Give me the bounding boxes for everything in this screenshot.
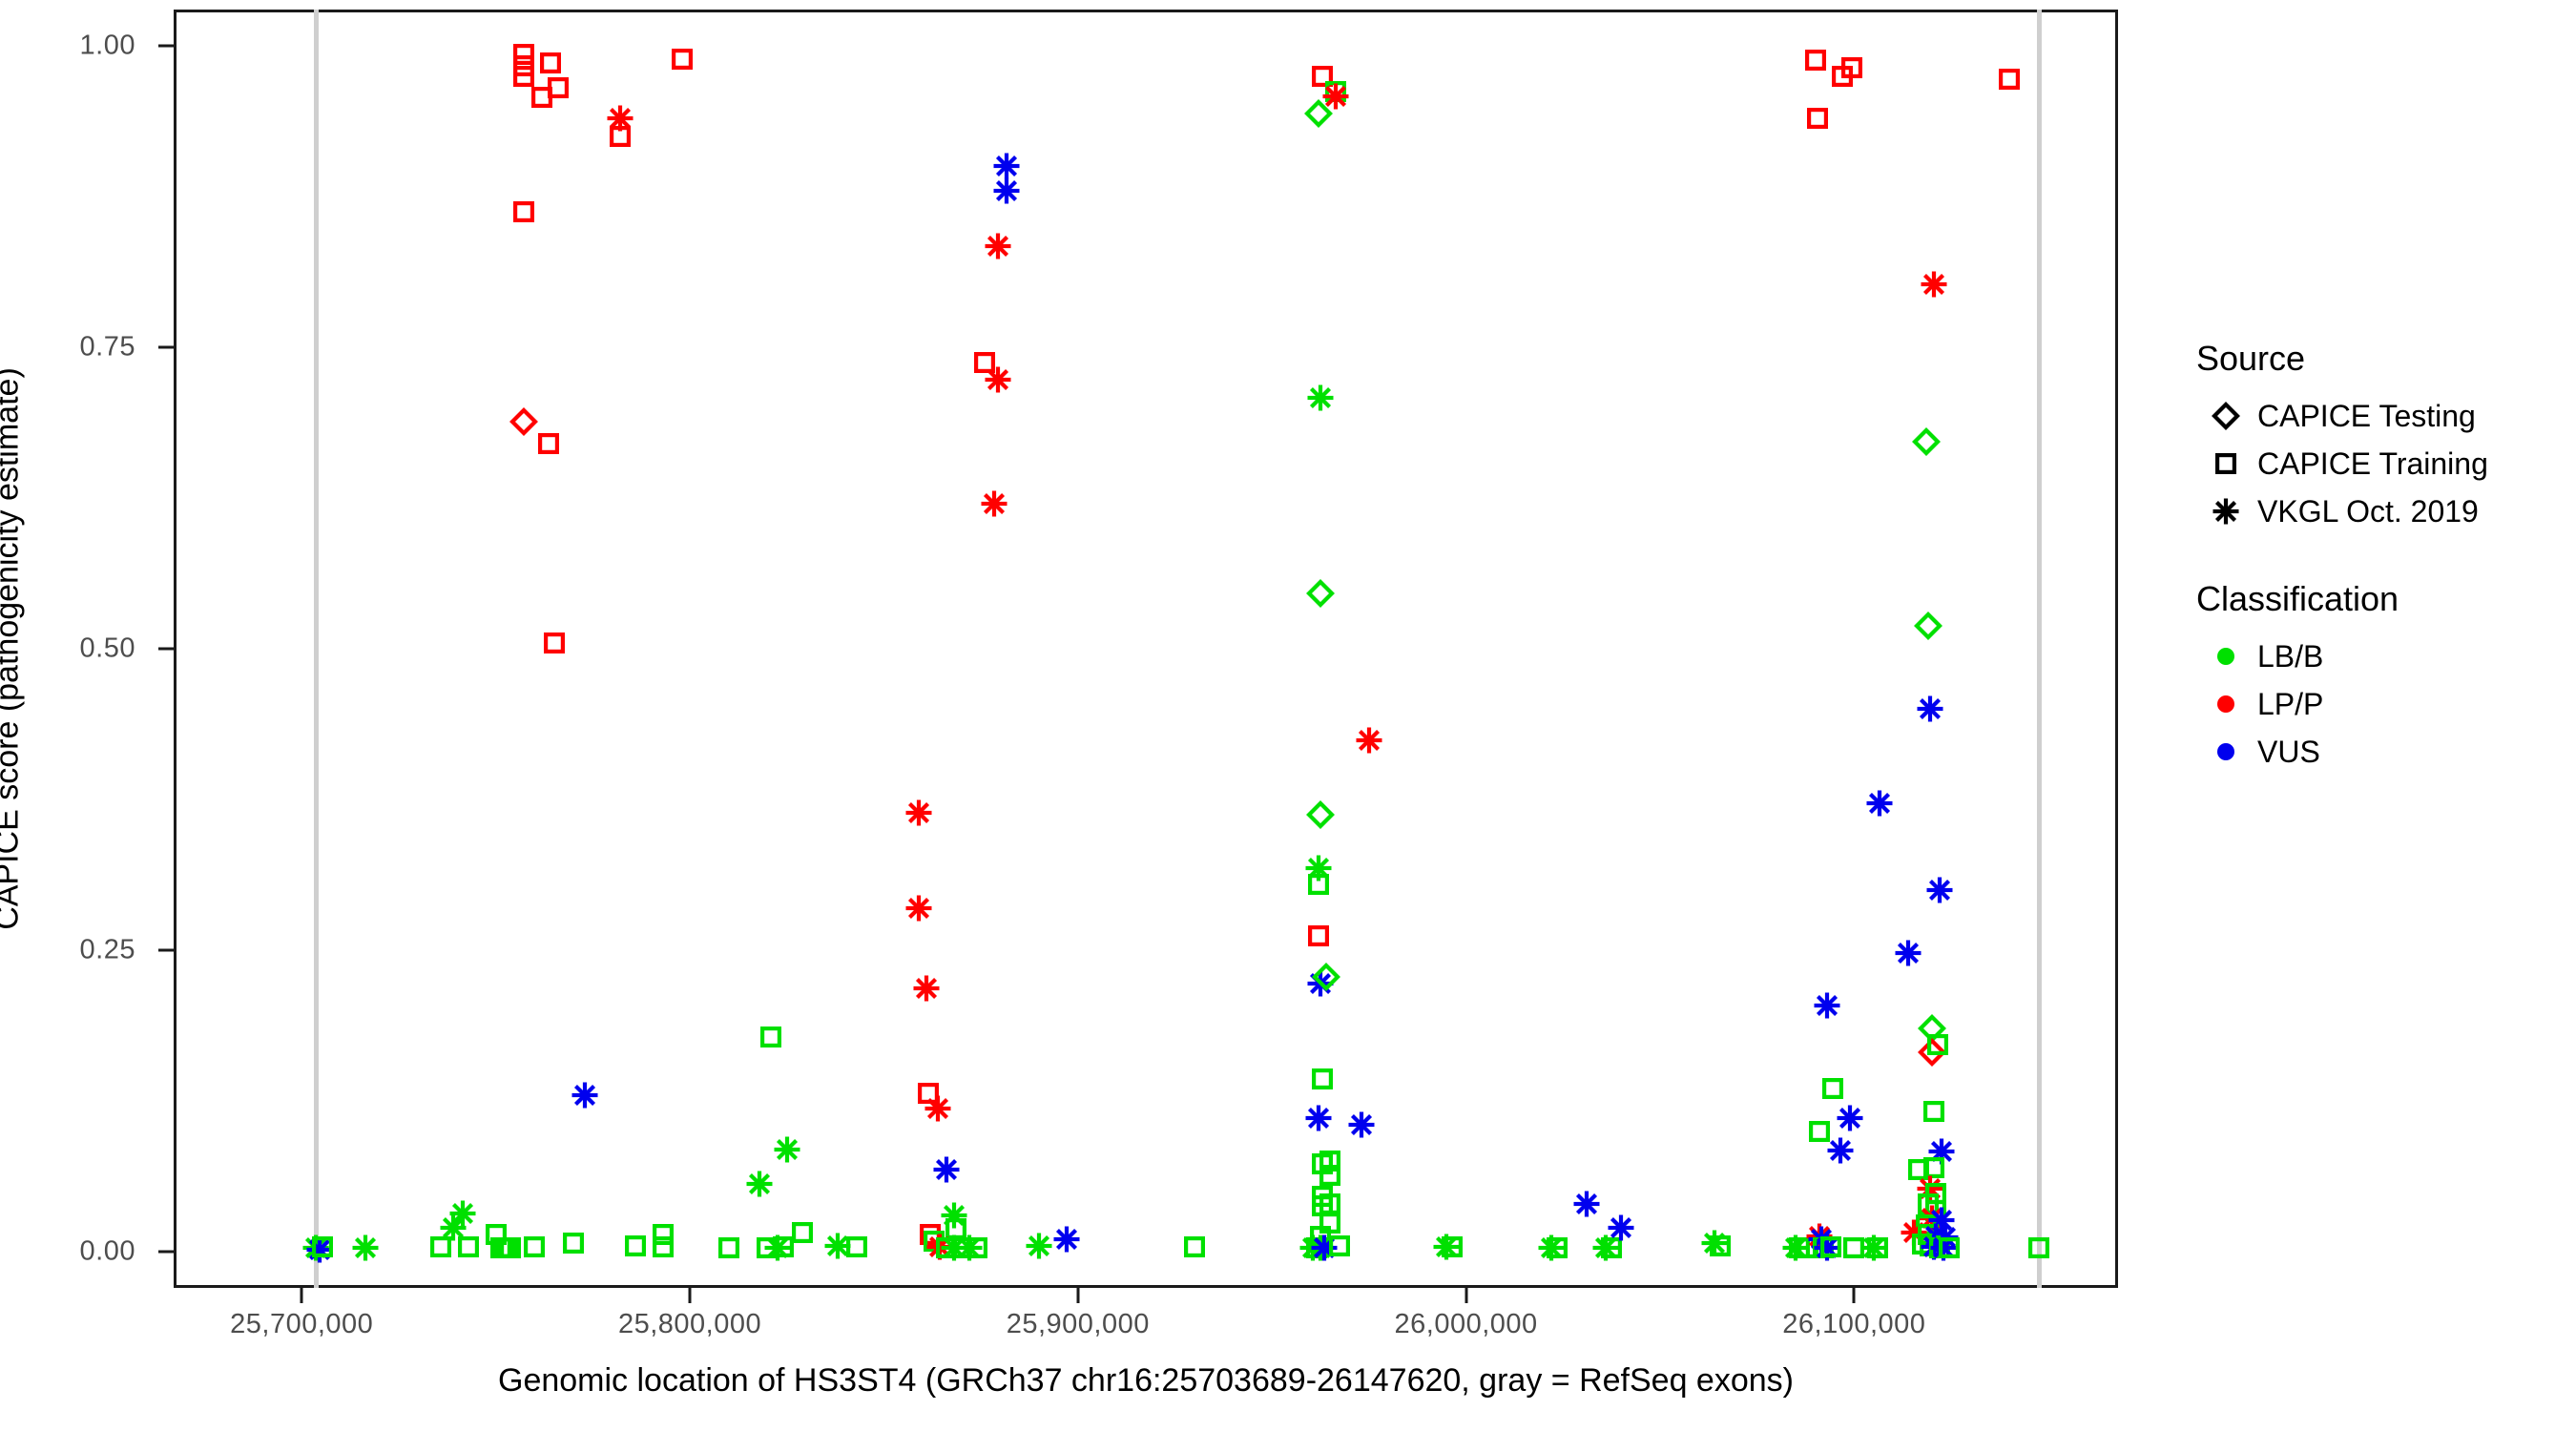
data-point bbox=[1794, 1234, 1822, 1262]
legend-item-lb-b[interactable]: LB/B bbox=[2194, 633, 2557, 680]
data-point bbox=[992, 152, 1021, 180]
data-point bbox=[1836, 1104, 1864, 1132]
x-tick-mark bbox=[1465, 1288, 1467, 1303]
data-point bbox=[1805, 1117, 1834, 1146]
refseq-exon-line-1 bbox=[314, 10, 319, 1288]
data-point bbox=[1310, 1234, 1339, 1262]
plot-area bbox=[174, 10, 2118, 1288]
x-tick-mark bbox=[689, 1288, 692, 1303]
data-point bbox=[745, 1170, 774, 1198]
data-point bbox=[1321, 82, 1350, 111]
data-point bbox=[1908, 1230, 1937, 1258]
data-point bbox=[757, 1023, 785, 1051]
data-point bbox=[490, 1234, 519, 1262]
data-point bbox=[1922, 1179, 1950, 1208]
data-point bbox=[1813, 991, 1841, 1020]
data-point bbox=[773, 1135, 801, 1164]
y-tick-mark bbox=[158, 44, 174, 47]
data-point bbox=[980, 489, 1008, 518]
data-point bbox=[1807, 1225, 1836, 1254]
data-point bbox=[940, 1234, 968, 1262]
data-point bbox=[1781, 1234, 1810, 1262]
data-point bbox=[1308, 1192, 1337, 1220]
data-point bbox=[448, 1199, 477, 1228]
data-point bbox=[1180, 1233, 1209, 1261]
y-tick-mark bbox=[158, 949, 174, 952]
data-point bbox=[496, 1234, 525, 1262]
data-point bbox=[482, 1220, 510, 1249]
data-point bbox=[984, 232, 1012, 260]
data-point bbox=[715, 1234, 743, 1262]
y-axis-title: CAPICE score (pathogenicity estimate) bbox=[0, 76, 27, 1221]
data-point bbox=[1918, 1204, 1946, 1233]
data-point bbox=[1306, 579, 1335, 608]
data-point bbox=[1432, 1233, 1461, 1261]
legend-item-capice-testing[interactable]: CAPICE Testing bbox=[2194, 392, 2557, 440]
legend-item-vkgl-oct-2019[interactable]: VKGL Oct. 2019 bbox=[2194, 487, 2557, 535]
data-point bbox=[509, 40, 538, 69]
data-point bbox=[963, 1234, 991, 1262]
data-point bbox=[1838, 53, 1866, 82]
data-point bbox=[788, 1218, 817, 1247]
data-point bbox=[1607, 1213, 1635, 1242]
data-point bbox=[1316, 1209, 1344, 1237]
data-point bbox=[947, 1234, 976, 1262]
data-point bbox=[1543, 1234, 1571, 1262]
plot-panel-wrapper bbox=[174, 10, 2118, 1288]
data-point bbox=[992, 176, 1021, 205]
data-point bbox=[1306, 800, 1335, 829]
data-point bbox=[932, 1155, 961, 1184]
y-tick-mark bbox=[158, 1251, 174, 1254]
data-point bbox=[942, 1214, 970, 1243]
data-point bbox=[1920, 270, 1948, 299]
data-point bbox=[621, 1232, 650, 1260]
data-point bbox=[1914, 1220, 1942, 1249]
data-point bbox=[454, 1233, 483, 1261]
data-point bbox=[544, 73, 572, 102]
data-point bbox=[823, 1232, 852, 1260]
data-point bbox=[1918, 1014, 1946, 1043]
data-point bbox=[509, 197, 538, 226]
data-point bbox=[1925, 876, 1954, 904]
y-tick-mark bbox=[158, 345, 174, 348]
x-axis: 25,700,00025,800,00025,900,00026,000,000… bbox=[174, 1288, 2118, 1431]
chart-page: 0.000.250.500.751.00 CAPICE score (patho… bbox=[0, 0, 2576, 1431]
data-point bbox=[904, 894, 933, 923]
data-point bbox=[1801, 46, 1830, 74]
red-dot-icon bbox=[2194, 690, 2257, 718]
data-point bbox=[1537, 1234, 1566, 1262]
data-point bbox=[540, 629, 569, 657]
data-point bbox=[769, 1233, 798, 1261]
legend-item-lp-p[interactable]: LP/P bbox=[2194, 680, 2557, 728]
data-point bbox=[920, 1227, 948, 1255]
data-point bbox=[308, 1233, 337, 1261]
data-point bbox=[1306, 384, 1335, 412]
data-point bbox=[912, 974, 941, 1003]
data-point bbox=[649, 1233, 677, 1261]
data-point bbox=[1894, 939, 1922, 967]
data-point bbox=[1818, 1074, 1847, 1103]
data-point bbox=[1935, 1234, 1963, 1262]
data-point bbox=[1914, 612, 1942, 640]
data-point bbox=[1308, 62, 1337, 91]
data-point bbox=[1927, 1137, 1956, 1166]
data-point bbox=[493, 1234, 522, 1262]
data-point bbox=[1914, 1190, 1942, 1218]
data-point bbox=[1308, 1150, 1337, 1178]
data-point bbox=[1316, 1161, 1344, 1190]
data-point bbox=[534, 429, 563, 458]
y-tick-label: 0.25 bbox=[80, 935, 135, 966]
data-point bbox=[753, 1234, 781, 1262]
data-point bbox=[1572, 1190, 1601, 1218]
data-point bbox=[1325, 1232, 1354, 1260]
chart-legend: SourceCAPICE TestingCAPICE TrainingVKGL … bbox=[2194, 339, 2557, 819]
legend-label: VKGL Oct. 2019 bbox=[2257, 494, 2479, 529]
x-tick-mark bbox=[1853, 1288, 1856, 1303]
data-point bbox=[649, 1220, 677, 1249]
data-point bbox=[1304, 1104, 1333, 1132]
y-tick-label: 0.50 bbox=[80, 633, 135, 665]
legend-item-vus[interactable]: VUS bbox=[2194, 728, 2557, 776]
data-point bbox=[1904, 1155, 1933, 1184]
square-outline-icon bbox=[2194, 449, 2257, 478]
x-tick-label: 25,900,000 bbox=[1007, 1309, 1150, 1340]
data-point bbox=[1912, 1211, 1941, 1239]
data-point bbox=[1918, 1038, 1946, 1067]
data-point bbox=[1995, 65, 2024, 93]
legend-title-classification: Classification bbox=[2196, 579, 2557, 619]
data-point bbox=[509, 407, 538, 436]
data-point bbox=[940, 1201, 968, 1230]
data-point bbox=[1826, 1136, 1855, 1165]
data-point bbox=[955, 1234, 984, 1262]
data-point bbox=[1900, 1218, 1928, 1247]
data-point bbox=[1865, 789, 1894, 818]
y-axis: 0.000.250.500.751.00 CAPICE score (patho… bbox=[0, 0, 174, 1297]
data-point bbox=[1438, 1233, 1466, 1261]
data-point bbox=[924, 1094, 952, 1123]
x-axis-title: Genomic location of HS3ST4 (GRCh37 chr16… bbox=[174, 1362, 2118, 1400]
data-point bbox=[932, 1234, 961, 1262]
legend-group-source: SourceCAPICE TestingCAPICE TrainingVKGL … bbox=[2194, 339, 2557, 535]
refseq-exon-line-2 bbox=[2037, 10, 2042, 1288]
data-point bbox=[1839, 1234, 1868, 1262]
data-point bbox=[1922, 1196, 1950, 1225]
data-point bbox=[1312, 963, 1340, 991]
data-point bbox=[1828, 62, 1857, 91]
data-point bbox=[536, 49, 565, 77]
data-point bbox=[571, 1081, 599, 1110]
y-tick-label: 1.00 bbox=[80, 30, 135, 61]
y-tick-label: 0.75 bbox=[80, 331, 135, 363]
data-point bbox=[1912, 427, 1941, 456]
data-point bbox=[606, 104, 634, 133]
data-point bbox=[1931, 1223, 1960, 1252]
data-point bbox=[509, 52, 538, 80]
data-point bbox=[1304, 99, 1333, 128]
data-point bbox=[842, 1233, 871, 1261]
data-point bbox=[1597, 1234, 1626, 1262]
data-point bbox=[426, 1233, 455, 1261]
data-point bbox=[1355, 726, 1383, 755]
x-tick-label: 26,000,000 bbox=[1395, 1309, 1538, 1340]
data-point bbox=[1925, 1234, 1954, 1262]
legend-group-classification: ClassificationLB/BLP/PVUS bbox=[2194, 579, 2557, 776]
data-point bbox=[1316, 1190, 1344, 1218]
blue-dot-icon bbox=[2194, 737, 2257, 766]
data-point bbox=[1920, 1153, 1948, 1182]
data-point bbox=[606, 122, 634, 151]
data-point bbox=[1927, 1206, 1956, 1234]
data-point bbox=[305, 1235, 334, 1264]
data-point bbox=[1052, 1225, 1081, 1254]
y-tick-mark bbox=[158, 648, 174, 651]
data-point bbox=[1817, 1233, 1845, 1261]
legend-title-source: Source bbox=[2196, 339, 2557, 379]
x-tick-label: 26,100,000 bbox=[1782, 1309, 1925, 1340]
data-point bbox=[1308, 1182, 1337, 1211]
data-point bbox=[1306, 1234, 1335, 1262]
data-point bbox=[509, 62, 538, 91]
x-tick-mark bbox=[1076, 1288, 1079, 1303]
data-point bbox=[1304, 870, 1333, 899]
data-point bbox=[1025, 1232, 1053, 1260]
data-point bbox=[1916, 1232, 1944, 1260]
diamond-outline-icon bbox=[2194, 402, 2257, 430]
data-point bbox=[487, 1234, 515, 1262]
data-point bbox=[984, 365, 1012, 394]
data-point bbox=[1920, 1097, 1948, 1126]
data-point bbox=[1298, 1234, 1327, 1262]
legend-label: LP/P bbox=[2257, 687, 2323, 722]
data-point bbox=[1700, 1229, 1729, 1257]
data-point bbox=[1347, 1110, 1376, 1139]
legend-label: LB/B bbox=[2257, 639, 2323, 674]
legend-label: VUS bbox=[2257, 735, 2320, 770]
data-point bbox=[1304, 854, 1333, 882]
data-point bbox=[925, 1233, 954, 1261]
data-point bbox=[1863, 1234, 1892, 1262]
data-point bbox=[1302, 1234, 1331, 1262]
data-point bbox=[1923, 1030, 1952, 1059]
data-point bbox=[668, 45, 696, 73]
asterisk-icon bbox=[2194, 497, 2257, 526]
x-tick-label: 25,800,000 bbox=[618, 1309, 761, 1340]
y-tick-label: 0.00 bbox=[80, 1236, 135, 1268]
data-point bbox=[1920, 1233, 1948, 1261]
green-dot-icon bbox=[2194, 642, 2257, 671]
data-point bbox=[528, 83, 556, 112]
data-point bbox=[763, 1234, 792, 1262]
data-point bbox=[1306, 1222, 1335, 1251]
x-tick-label: 25,700,000 bbox=[230, 1309, 373, 1340]
data-point bbox=[559, 1229, 588, 1257]
data-point bbox=[1922, 1222, 1950, 1251]
data-point bbox=[904, 798, 933, 827]
legend-item-capice-training[interactable]: CAPICE Training bbox=[2194, 440, 2557, 487]
data-point bbox=[1308, 1065, 1337, 1093]
data-point bbox=[1785, 1234, 1814, 1262]
data-point bbox=[1929, 1234, 1958, 1262]
data-point bbox=[1316, 1147, 1344, 1175]
data-point bbox=[914, 1079, 943, 1108]
data-point bbox=[1916, 1174, 1944, 1203]
data-point bbox=[1809, 1234, 1838, 1262]
data-point bbox=[1805, 1222, 1834, 1251]
data-point bbox=[351, 1234, 380, 1262]
data-point bbox=[1813, 1234, 1841, 1262]
data-point bbox=[1306, 969, 1335, 998]
data-point bbox=[1859, 1234, 1888, 1262]
data-point bbox=[1803, 104, 1832, 133]
data-point bbox=[916, 1220, 945, 1249]
legend-label: CAPICE Training bbox=[2257, 446, 2488, 482]
legend-label: CAPICE Testing bbox=[2257, 399, 2476, 434]
data-point bbox=[1304, 922, 1333, 950]
data-point bbox=[439, 1213, 467, 1242]
data-point bbox=[520, 1233, 549, 1261]
data-point bbox=[1706, 1232, 1735, 1260]
data-point bbox=[1916, 695, 1944, 723]
data-point bbox=[1591, 1234, 1620, 1262]
x-tick-mark bbox=[301, 1288, 303, 1303]
data-point bbox=[970, 348, 999, 377]
data-point bbox=[1321, 77, 1350, 106]
